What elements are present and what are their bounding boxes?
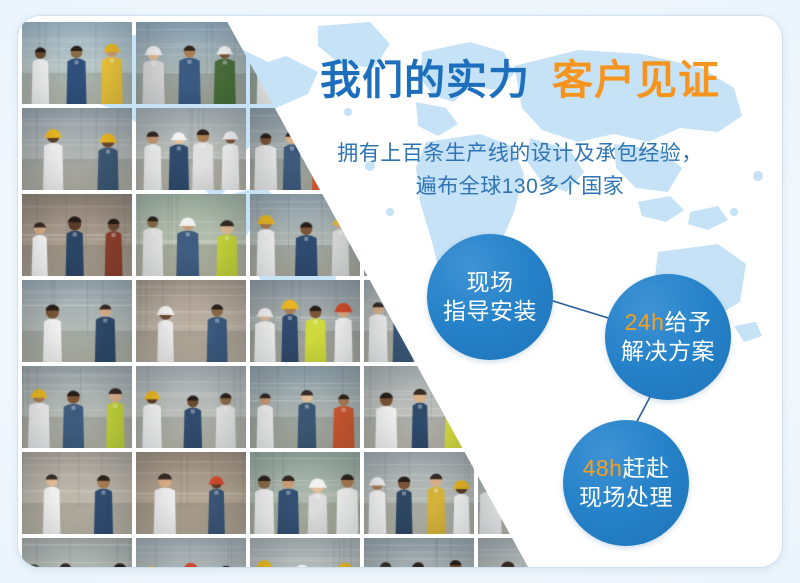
collage-photo: [136, 194, 246, 276]
collage-photo: [478, 366, 588, 448]
collage-photo: [478, 538, 588, 567]
node-1-line-2: 指导安装: [443, 297, 537, 326]
node-2-line-1: 24h给予: [625, 308, 712, 337]
collage-photo: [364, 366, 474, 448]
collage-photo: [250, 194, 360, 276]
collage-photo: [136, 538, 246, 567]
collage-photo: [136, 108, 246, 190]
node-1-line-1: 现场: [467, 268, 514, 297]
node-2-line-1-rest: 给予: [664, 309, 711, 335]
subtitle-line-1: 拥有上百条生产线的设计及承包经验，: [270, 138, 770, 171]
collage-photo: [22, 452, 132, 534]
collage-photo: [22, 538, 132, 567]
content-card: 我们的实力客户见证 拥有上百条生产线的设计及承包经验， 遍布全球130多个国家 …: [18, 16, 782, 567]
collage-photo: [136, 280, 246, 362]
subtitle-line-2: 遍布全球130多个国家: [270, 171, 770, 204]
collage-photo: [22, 366, 132, 448]
collage-photo: [250, 366, 360, 448]
collage-photo: [364, 538, 474, 567]
collage-photo: [22, 194, 132, 276]
node-onsite-install[interactable]: 现场 指导安装: [427, 234, 553, 360]
node-24h-solution[interactable]: 24h给予 解决方案: [605, 274, 731, 400]
collage-photo: [250, 538, 360, 567]
node-2-line-2: 解决方案: [621, 337, 715, 366]
collage-photo: [136, 452, 246, 534]
node-2-accent: 24h: [625, 309, 665, 335]
collage-photo: [250, 452, 360, 534]
page-subtitle: 拥有上百条生产线的设计及承包经验， 遍布全球130多个国家: [270, 138, 770, 203]
title-primary: 我们的实力: [320, 57, 530, 103]
poster-stage: 我们的实力客户见证 拥有上百条生产线的设计及承包经验， 遍布全球130多个国家 …: [0, 0, 800, 583]
collage-photo: [22, 280, 132, 362]
page-title: 我们的实力客户见证: [270, 60, 770, 101]
collage-photo: [364, 452, 474, 534]
collage-photo: [250, 280, 360, 362]
collage-photo: [136, 22, 246, 104]
collage-photo: [22, 22, 132, 104]
node-48h-onsite[interactable]: 48h赶赴 现场处理: [563, 420, 689, 546]
collage-photo: [22, 108, 132, 190]
node-3-accent: 48h: [583, 455, 623, 481]
collage-photo: [136, 366, 246, 448]
node-3-line-1: 48h赶赴: [583, 454, 670, 483]
title-accent: 客户见证: [552, 57, 720, 103]
node-3-line-2: 现场处理: [579, 483, 673, 512]
node-3-line-1-rest: 赶赴: [622, 455, 669, 481]
